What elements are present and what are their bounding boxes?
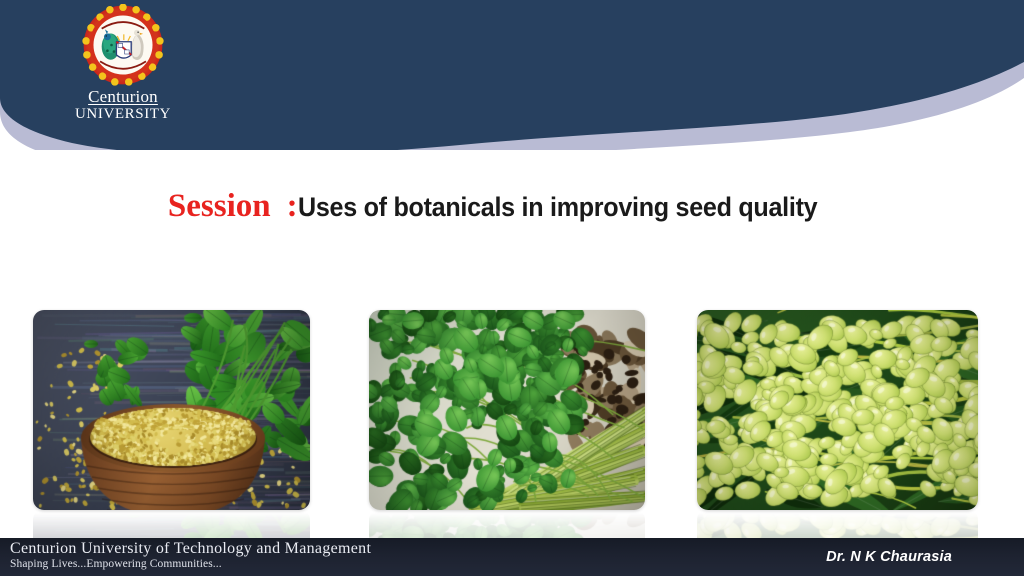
image-neem-fruits	[697, 310, 978, 510]
title-separator: :	[271, 188, 298, 224]
footer-organization: Centurion University of Technology and M…	[10, 540, 371, 558]
presentation-slide: Centurion UNIVERSITY Session:Uses of bot…	[0, 0, 1024, 576]
image-fenugreek-seeds	[33, 310, 310, 510]
logo-subname-text: UNIVERSITY	[63, 106, 183, 123]
fenugreek-seeds-canvas	[33, 310, 310, 510]
footer-tagline: Shaping Lives...Empowering Communities..…	[10, 558, 371, 572]
centurion-crest-icon	[82, 4, 164, 86]
slide-title: Session:Uses of botanicals in improving …	[0, 188, 1024, 225]
university-logo: Centurion UNIVERSITY	[63, 4, 183, 122]
image-moringa-drumstick	[369, 310, 645, 510]
logo-name-text: Centurion	[63, 88, 183, 106]
title-text: Uses of botanicals in improving seed qua…	[298, 192, 817, 223]
moringa-drumstick-canvas	[369, 310, 645, 510]
neem-fruits-canvas	[697, 310, 978, 510]
title-session-label: Session	[168, 188, 271, 224]
footer-branding: Centurion University of Technology and M…	[10, 540, 371, 572]
footer-author: Dr. N K Chaurasia	[826, 549, 952, 565]
slide-footer: Centurion University of Technology and M…	[0, 538, 1024, 576]
